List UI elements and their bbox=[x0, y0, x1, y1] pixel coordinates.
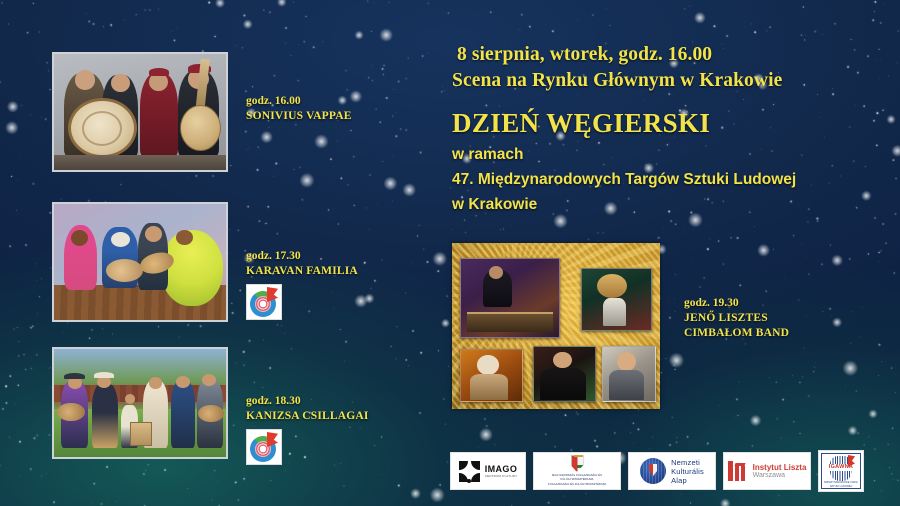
nka-line-1: Nemzeti bbox=[671, 458, 704, 467]
act-time: godz. 17.30 bbox=[246, 249, 358, 264]
headline-block: 8 sierpnia, wtorek, godz. 16.00 Scena na… bbox=[452, 42, 892, 215]
headline-sub-1: w ramach bbox=[452, 144, 892, 165]
act-name: KANIZSA CSILLAGAI bbox=[246, 409, 369, 424]
act-label-karavan-familia: godz. 17.30 KARAVAN FAMILIA bbox=[246, 249, 358, 279]
act-label-kanizsa-csillagai: godz. 18.30 KANIZSA CSILLAGAI bbox=[246, 394, 369, 424]
hungarian-coat-of-arms-icon bbox=[571, 455, 584, 472]
sponsor-logo-liszt-institute: Instytut Liszta Warszawa bbox=[723, 452, 811, 490]
liszt-line-2: Warszawa bbox=[753, 472, 807, 480]
act-photo-jeno-lisztes-collage bbox=[452, 243, 660, 409]
act-name: KARAVAN FAMILIA bbox=[246, 264, 358, 279]
nka-globe-icon bbox=[640, 458, 666, 484]
act-name-secondary: CIMBAŁOM BAND bbox=[684, 326, 789, 341]
imago-petal-icon bbox=[459, 461, 480, 482]
igawna-globe-icon: IGAWNA MIĘDZYNARODOWE TARGI SZTUKI LUDOW… bbox=[821, 453, 861, 489]
page-title: DZIEŃ WĘGIERSKI bbox=[452, 106, 892, 140]
sponsor-logo-ministry: MAGYARORSZÁG KÜLGAZDASÁGI ÉS KÜLÜGYMINIS… bbox=[533, 452, 621, 490]
imago-name: IMAGO bbox=[485, 464, 518, 474]
folk-music-badge-icon bbox=[246, 284, 282, 320]
liszt-monogram-icon bbox=[728, 461, 748, 481]
act-label-sonivius-vappae: godz. 16.00 SONIVIUS VAPPAE bbox=[246, 94, 352, 124]
sponsor-logo-nka: Nemzeti Kulturális Alap bbox=[628, 452, 716, 490]
act-photo-sonivius-vappae bbox=[52, 52, 228, 172]
act-name: JENŐ LISZTES bbox=[684, 311, 789, 326]
sponsor-logo-strip: IMAGO CENTRUM KULTURY MAGYARORSZÁG KÜLGA… bbox=[450, 447, 890, 495]
collage-photo-2 bbox=[581, 268, 652, 331]
act-time: godz. 18.30 bbox=[246, 394, 369, 409]
act-time: godz. 19.30 bbox=[684, 296, 789, 311]
act-name: SONIVIUS VAPPAE bbox=[246, 109, 352, 124]
act-label-jeno-lisztes: godz. 19.30 JENŐ LISZTES CIMBAŁOM BAND bbox=[684, 296, 789, 341]
ministry-line-1: MAGYARORSZÁG KÜLGAZDASÁGI ÉS KÜLÜGYMINIS… bbox=[538, 474, 616, 481]
collage-photo-1 bbox=[460, 258, 560, 338]
collage-photo-3 bbox=[460, 349, 522, 402]
poster-canvas: 8 sierpnia, wtorek, godz. 16.00 Scena na… bbox=[0, 0, 900, 506]
act-time: godz. 16.00 bbox=[246, 94, 352, 109]
folk-music-badge-icon bbox=[246, 429, 282, 465]
collage-photo-4 bbox=[533, 346, 595, 402]
ministry-line-2: KÜLGAZDASÁGI ÉS KÜLÜGYMINISZTÉRIUM bbox=[548, 483, 606, 487]
sponsor-logo-igawna: IGAWNA MIĘDZYNARODOWE TARGI SZTUKI LUDOW… bbox=[818, 450, 864, 492]
headline-venue-line: Scena na Rynku Głównym w Krakowie bbox=[452, 68, 892, 94]
nka-line-2: Kulturális bbox=[671, 467, 704, 476]
act-photo-karavan-familia bbox=[52, 202, 228, 322]
liszt-line-1: Instytut Liszta bbox=[753, 463, 807, 472]
collage-photo-5 bbox=[602, 346, 656, 402]
act-photo-kanizsa-csillagai bbox=[52, 347, 228, 459]
sponsor-logo-imago: IMAGO CENTRUM KULTURY bbox=[450, 452, 526, 490]
headline-sub-2: 47. Międzynarodowych Targów Sztuki Ludow… bbox=[452, 169, 892, 190]
headline-sub-3: w Krakowie bbox=[452, 194, 892, 215]
headline-date-line: 8 sierpnia, wtorek, godz. 16.00 bbox=[452, 42, 892, 68]
imago-subtitle: CENTRUM KULTURY bbox=[485, 474, 518, 478]
nka-line-3: Alap bbox=[671, 476, 704, 485]
igawna-subtitle: MIĘDZYNARODOWE TARGI SZTUKI LUDOWEJ bbox=[822, 481, 860, 488]
